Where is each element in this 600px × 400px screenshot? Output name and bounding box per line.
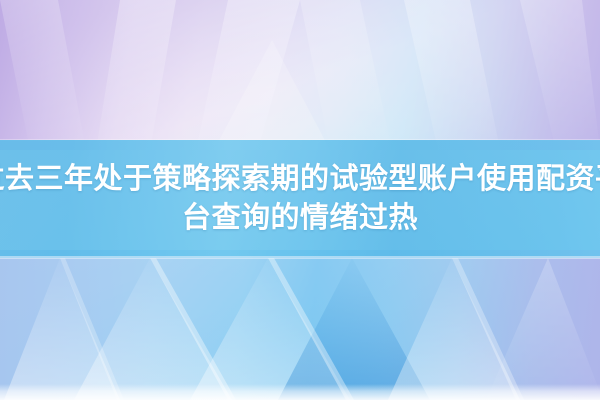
title-line-1: 过去三年处于策略探索期的试验型账户使用配资平: [0, 160, 600, 199]
shape-wedge-upper-e: [404, 0, 500, 150]
shape-wedge-upper-b: [96, 0, 176, 150]
banner-image: 过去三年处于策略探索期的试验型账户使用配资平 台查询的情绪过热: [0, 0, 600, 400]
title-block: 过去三年处于策略探索期的试验型账户使用配资平 台查询的情绪过热: [0, 140, 600, 258]
shape-wedge-upper-a: [0, 0, 86, 150]
shape-wedge-upper-f: [520, 0, 600, 150]
bottom-fade-strip: [0, 384, 600, 400]
shape-triangle-lower-6: [486, 258, 600, 400]
title-line-2: 台查询的情绪过热: [182, 199, 418, 238]
